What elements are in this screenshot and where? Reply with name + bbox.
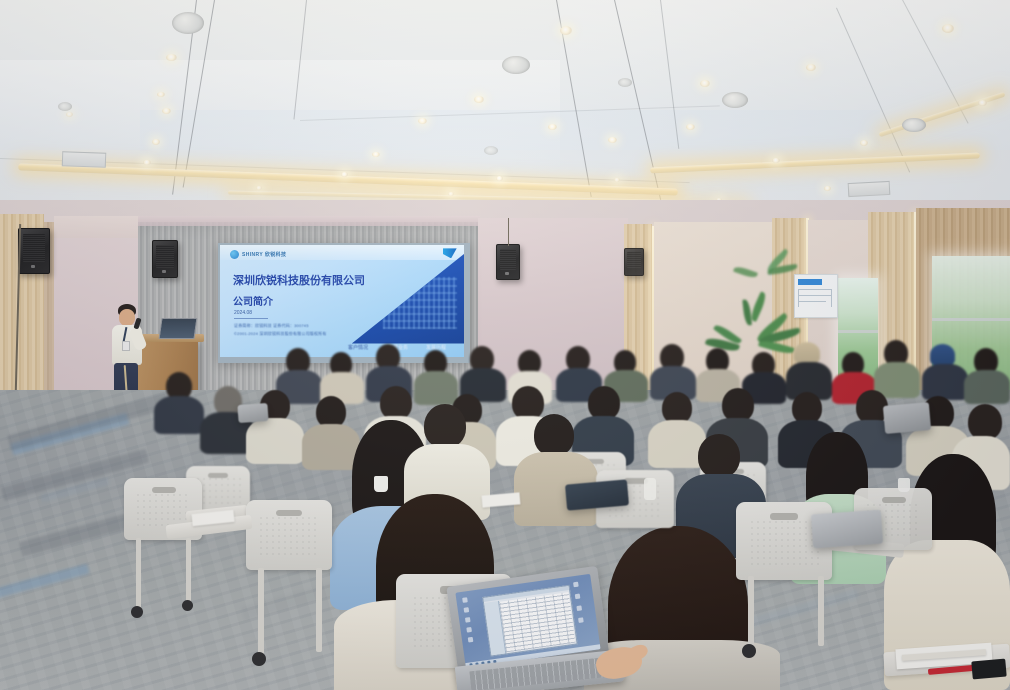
desktop-icon: [464, 607, 470, 613]
wall-speaker-far: [624, 248, 644, 276]
slide-fine-print-2: ©2001-2024 深圳欣锐科技股份有限公司版权所有: [234, 331, 327, 337]
ceiling-downlight: [978, 100, 987, 106]
ceiling-downlight: [806, 64, 816, 71]
chair-handle-slot: [770, 513, 798, 520]
ceiling-downlight: [256, 186, 262, 190]
logo-text: SHINRY 欣锐科技: [242, 251, 286, 258]
ceiling-downlight: [860, 140, 868, 146]
chair-caster: [742, 644, 756, 658]
ceiling-downlight: [372, 152, 380, 157]
wall-speaker-left: [18, 228, 50, 274]
slide-date: 2024.08: [234, 310, 252, 316]
ceiling-speaker: [618, 78, 632, 87]
audience-body: [964, 370, 1010, 404]
ceiling-speaker: [484, 146, 498, 155]
ceiling-downlight: [66, 112, 73, 117]
ceiling-downlight: [143, 160, 151, 165]
ceiling-speaker: [902, 118, 926, 132]
spreadsheet-window[interactable]: [482, 585, 577, 657]
desktop-icon: [573, 582, 579, 588]
phone[interactable]: [971, 659, 1006, 680]
audience-head: [424, 404, 466, 448]
audience-head: [698, 434, 740, 478]
ceiling-downlight: [448, 192, 454, 196]
ceiling-vent: [62, 151, 106, 168]
desktop-icon: [576, 605, 582, 611]
audience-laptop: [237, 403, 268, 423]
slide-subtitle: 公司简介: [233, 293, 273, 308]
desktop-icon: [465, 617, 471, 623]
projection-screen: SHINRY 欣锐科技 深圳欣锐科技股份有限公司 公司简介 2024.08 证券…: [218, 243, 470, 363]
audience-laptop: [565, 479, 629, 510]
desktop-icon: [462, 597, 468, 603]
spreadsheet-grid: [499, 592, 575, 652]
audience-body: [154, 396, 204, 434]
company-logo: SHINRY 欣锐科技: [230, 250, 286, 259]
slide-footer-item: 客户情况: [348, 344, 368, 351]
logo-mark-icon: [230, 250, 239, 259]
chair-caster: [131, 606, 143, 618]
presentation-slide: SHINRY 欣锐科技 深圳欣锐科技股份有限公司 公司简介 2024.08 证券…: [220, 245, 464, 357]
wall-speaker-center: [152, 240, 178, 278]
training-chair: [246, 500, 332, 570]
wall-speaker-right: [496, 244, 520, 280]
poster-accent-bar: [798, 279, 822, 285]
ceiling-downlight: [942, 24, 954, 33]
ceiling-downlight: [157, 92, 165, 97]
slide-triangle-graphic: [352, 254, 464, 344]
ceiling-downlight: [166, 54, 177, 61]
audience-head: [512, 386, 544, 420]
audience-head-with-cap: [930, 344, 955, 366]
ceiling-downlight: [686, 124, 695, 130]
ceiling-speaker: [722, 92, 748, 108]
presenter-head: [119, 309, 135, 326]
paper-cup: [374, 476, 388, 492]
ceiling-downlight: [560, 26, 572, 35]
audience-head: [534, 414, 574, 456]
ceiling-downlight: [162, 108, 171, 114]
ceiling-downlight: [418, 118, 427, 124]
ceiling-downlight: [614, 178, 620, 182]
slide-fine-print-1: 证券简称：欣锐科技 证券代码：300745: [234, 323, 309, 329]
ceiling-speaker: [172, 12, 204, 34]
desktop-icon: [578, 617, 584, 623]
chair-caster: [252, 652, 266, 666]
audience-head: [722, 388, 754, 422]
desktop-icon: [468, 637, 474, 643]
presenter-badge: [122, 341, 130, 351]
audience-head: [968, 404, 1002, 440]
desktop-icon: [466, 627, 472, 633]
desktop-icon: [575, 594, 581, 600]
audience-body: [302, 424, 360, 470]
ceiling-downlight: [772, 158, 780, 163]
ceiling-downlight: [700, 80, 710, 87]
water-bottle: [644, 478, 656, 500]
ceiling-downlight: [824, 186, 831, 191]
ceiling-downlight: [496, 176, 503, 181]
chair-handle-slot: [152, 487, 176, 493]
chair-handle-slot: [882, 497, 906, 503]
conference-room-photo: SHINRY 欣锐科技 深圳欣锐科技股份有限公司 公司简介 2024.08 证券…: [0, 0, 1010, 690]
audience-head: [380, 386, 412, 420]
audience-laptop: [883, 402, 931, 434]
ceiling-downlight: [608, 137, 617, 143]
paper-cup: [898, 478, 910, 492]
audience-laptop: [811, 510, 883, 549]
podium-laptop: [159, 318, 198, 339]
potted-palm: [754, 236, 800, 296]
audience-head: [588, 386, 620, 420]
chair-handle-slot: [276, 510, 302, 516]
audience-body: [246, 418, 304, 464]
ceiling-downlight: [341, 172, 348, 177]
slide-title: 深圳欣锐科技股份有限公司: [233, 272, 365, 288]
audience-body: [414, 371, 458, 405]
ceiling-speaker: [502, 56, 530, 74]
ceiling-downlight: [474, 96, 484, 103]
chair-caster: [182, 600, 193, 611]
audience-head-with-cap: [794, 342, 820, 364]
audience-body: [922, 364, 968, 400]
ceiling-vent: [848, 181, 891, 197]
ceiling-speaker: [58, 102, 72, 111]
ceiling-downlight: [152, 139, 160, 145]
ceiling-downlight: [548, 124, 557, 130]
